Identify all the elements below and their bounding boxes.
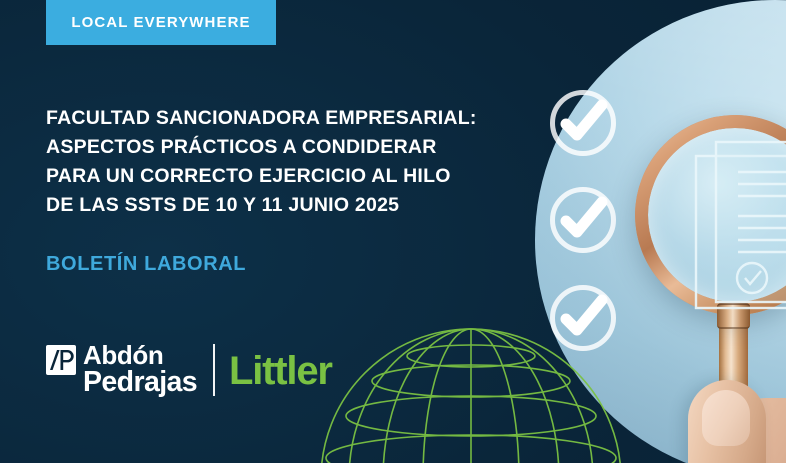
local-everywhere-badge: LOCAL EVERYWHERE	[46, 0, 276, 45]
check-mark-2-glyph	[550, 187, 616, 253]
logo-line-2: Pedrajas	[83, 369, 197, 396]
magnifier-collar	[717, 303, 750, 329]
abdon-pedrajas-wordmark: Abdón Pedrajas	[83, 343, 197, 396]
page-title: FACULTAD SANCIONADORA EMPRESARIAL: ASPEC…	[46, 104, 516, 220]
check-circle-1-icon	[550, 90, 616, 156]
headline-line-1: FACULTAD SANCIONADORA EMPRESARIAL:	[46, 104, 516, 133]
thumb	[688, 380, 766, 463]
logo-divider	[213, 344, 215, 396]
check-circle-2-icon	[550, 187, 616, 253]
check-circle-3-icon	[550, 285, 616, 351]
headline-line-4: DE LAS SSTS DE 10 Y 11 JUNIO 2025	[46, 191, 516, 220]
headline-line-2: ASPECTOS PRÁCTICOS A CONDIDERAR	[46, 133, 516, 162]
headline-line-3: PARA UN CORRECTO EJERCICIO AL HILO	[46, 162, 516, 191]
ap-monogram-icon	[46, 345, 76, 375]
littler-wordmark: Littler	[229, 351, 332, 391]
badge-label: LOCAL EVERYWHERE	[71, 14, 250, 31]
brand-logo: Abdón Pedrajas Littler	[46, 339, 332, 401]
abdon-pedrajas-logo: Abdón Pedrajas	[46, 343, 197, 396]
banner-canvas: LOCAL EVERYWHERE FACULTAD SANCIONADORA E…	[0, 0, 786, 463]
thumbnail	[702, 390, 750, 446]
hand-holding-magnifier	[688, 360, 786, 463]
page-subtitle: BOLETÍN LABORAL	[46, 253, 246, 276]
check-mark-1-glyph	[550, 90, 616, 156]
logo-line-1: Abdón	[83, 343, 197, 368]
check-mark-3-glyph	[550, 285, 616, 351]
